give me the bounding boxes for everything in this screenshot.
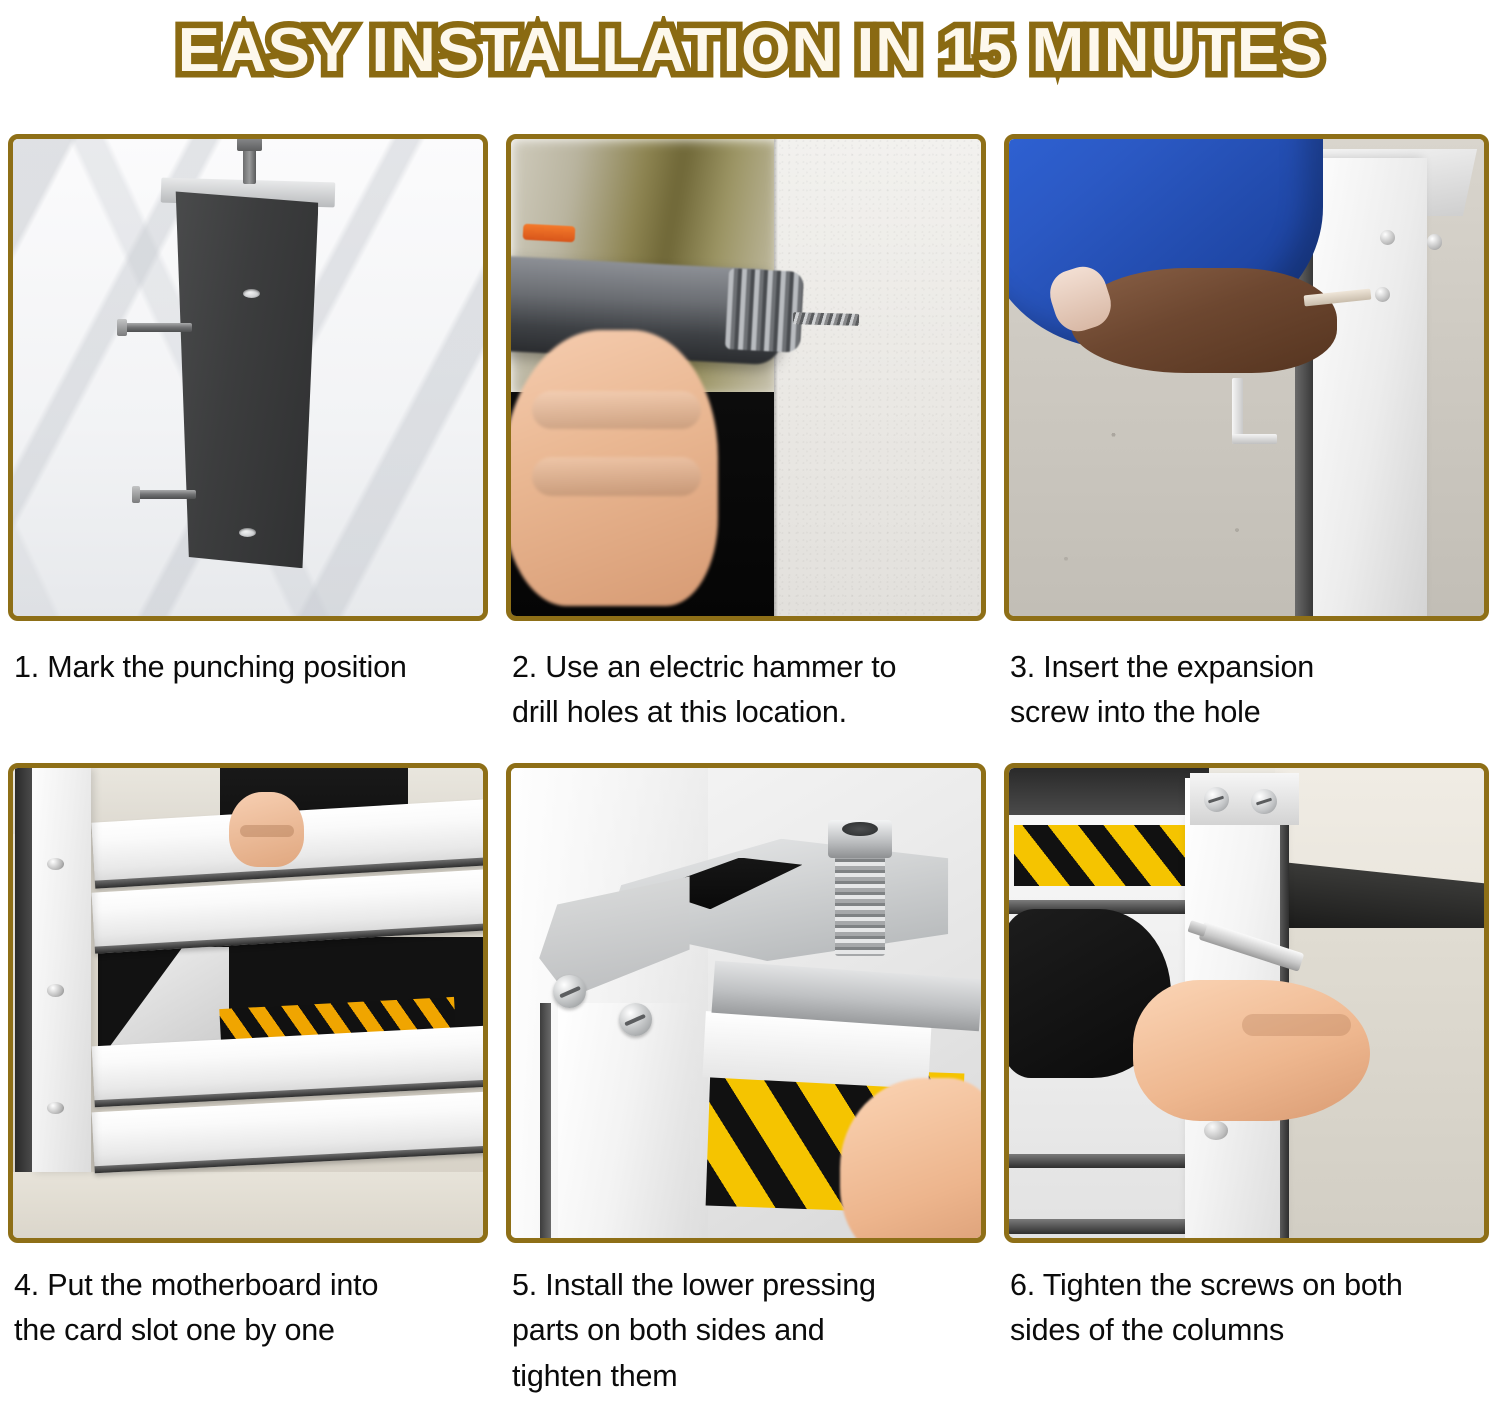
installer-hand [1133,980,1371,1121]
column-screw [47,858,64,870]
drill-chuck [725,268,804,353]
step-3-photo-frame [1004,134,1489,621]
hazard-stripe [1014,825,1185,886]
column-screw [1204,1121,1228,1140]
allen-key-icon [1232,378,1242,445]
operator-hand [511,330,718,607]
row-spacer [1004,735,1489,763]
step-cell-2: 2. Use an electric hammer to drill holes… [506,134,986,735]
steps-grid: 1. Mark the punching position 2. Use an … [8,134,1492,1399]
lower-marking-hole [239,528,256,537]
tighten-screws-photo [1009,768,1484,1238]
step-4-caption: 4. Put the motherboard into the card slo… [8,1243,488,1353]
caption-line: 3. Insert the expansion [1010,645,1483,690]
step-cell-6: 6. Tighten the screws on both sides of t… [1004,763,1489,1398]
page-title: EASY INSTALLATION IN 15 MINUTES [177,15,1322,86]
row-spacer [506,735,986,763]
knurled-bolt-head [828,820,891,858]
caption-line: screw into the hole [1010,690,1483,735]
step-cell-4: 4. Put the motherboard into the card slo… [8,763,488,1398]
expansion-screw-photo [1009,139,1484,616]
caption-line: parts on both sides and [512,1308,980,1353]
caption-line: sides of the columns [1010,1308,1483,1353]
step-6-caption: 6. Tighten the screws on both sides of t… [1004,1243,1489,1353]
caption-line: tighten them [512,1354,980,1399]
motherboard-slot-photo [13,768,483,1238]
caption-line: 5. Install the lower pressing [512,1263,980,1308]
caption-line: 4. Put the motherboard into [14,1263,482,1308]
caption-line: 1. Mark the punching position [14,645,482,690]
caption-line: drill holes at this location. [512,690,980,735]
step-2-photo-frame [506,134,986,621]
row-spacer [8,735,488,763]
upper-bolt [121,323,192,333]
column-screw [1427,234,1442,249]
step-cell-5: 5. Install the lower pressing parts on b… [506,763,986,1398]
step-4-photo-frame [8,763,488,1243]
step-1-caption: 1. Mark the punching position [8,621,488,690]
column-screw [1251,789,1277,814]
step-1-photo-frame [8,134,488,621]
step-5-photo-frame [506,763,986,1243]
board-groove [1009,1154,1209,1168]
dark-metal-post [173,191,319,568]
step-5-caption: 5. Install the lower pressing parts on b… [506,1243,986,1398]
worker-arm [1071,268,1337,373]
lower-bolt [135,490,196,500]
step-6-photo-frame [1004,763,1489,1243]
white-column [558,1003,690,1238]
caption-line: 6. Tighten the screws on both [1010,1263,1483,1308]
top-stud-icon [243,146,255,184]
page-title-banner: EASY INSTALLATION IN 15 MINUTES [0,0,1500,100]
column-screw [47,984,64,996]
bracket-screw [553,975,586,1008]
caption-line: the card slot one by one [14,1308,482,1353]
caption-line: 2. Use an electric hammer to [512,645,980,690]
board-groove [1009,1219,1209,1233]
step-3-caption: 3. Insert the expansion screw into the h… [1004,621,1489,735]
drilling-holes-photo [511,139,981,616]
column-screw [1380,230,1395,245]
installation-guide-page: EASY INSTALLATION IN 15 MINUTES 1. Mark … [0,0,1500,1403]
step-2-caption: 2. Use an electric hammer to drill holes… [506,621,986,735]
top-dark-bar [1009,768,1209,815]
floor-area [13,1172,483,1238]
installer-hand [229,792,304,867]
column-screw [47,1102,64,1114]
bracket-screw [619,1003,652,1036]
white-textured-wall [774,139,981,616]
step-cell-1: 1. Mark the punching position [8,134,488,735]
step-cell-3: 3. Insert the expansion screw into the h… [1004,134,1489,735]
lower-pressing-parts-photo [511,768,981,1238]
marking-position-photo [13,139,483,616]
drill-trigger-icon [522,224,574,243]
column-screw [1375,287,1390,302]
masonry-drill-bit [793,312,859,326]
white-column [1313,158,1427,616]
